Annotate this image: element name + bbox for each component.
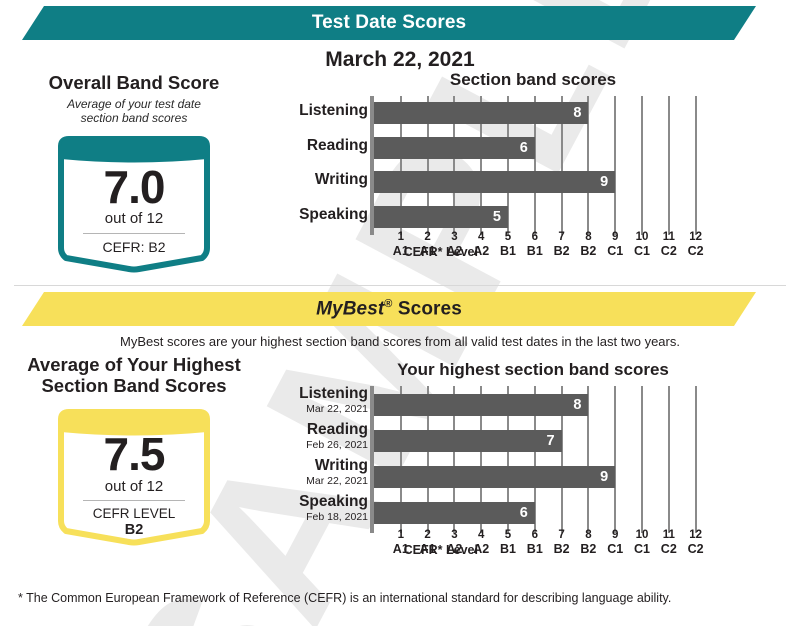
mybest-cefr-level-label: CEFR LEVEL <box>93 506 176 522</box>
x-tick-number: 1 <box>387 529 415 542</box>
x-tick-number: 9 <box>601 231 629 244</box>
x-tick-5: 5B1 <box>494 231 522 259</box>
row-label-speaking: Speaking <box>258 207 368 223</box>
x-tick-cefr: C2 <box>655 542 683 556</box>
row-label-date: Mar 22, 2021 <box>258 475 368 487</box>
x-tick-cefr: C2 <box>655 244 683 258</box>
x-tick-7: 7B2 <box>548 231 576 259</box>
x-tick-10: 10C1 <box>628 529 656 557</box>
overall-band-score-outof: out of 12 <box>105 211 163 228</box>
x-tick-number: 11 <box>655 529 683 542</box>
mybest-band-scores-plot: ListeningMar 22, 2021ReadingFeb 26, 2021… <box>258 388 788 529</box>
x-tick-7: 7B2 <box>548 529 576 557</box>
gridline-12 <box>695 96 697 235</box>
x-tick-11: 11C2 <box>655 231 683 259</box>
mybest-description: MyBest scores are your highest section b… <box>0 334 800 349</box>
mybest-average-block: Average of Your HighestSection Band Scor… <box>18 355 250 547</box>
bar-reading: 7 <box>374 430 562 452</box>
bar-fill: 8 <box>374 394 588 416</box>
bar-fill: 9 <box>374 466 615 488</box>
badge-divider-mybest <box>83 500 185 501</box>
bar-fill: 9 <box>374 171 615 193</box>
test-date-scores-banner-title: Test Date Scores <box>312 12 466 34</box>
row-label-name: Reading <box>258 422 368 438</box>
bar-writing: 9 <box>374 171 615 193</box>
x-tick-number: 7 <box>548 529 576 542</box>
x-tick-9: 9C1 <box>601 231 629 259</box>
row-label-date: Feb 18, 2021 <box>258 511 368 523</box>
x-tick-number: 2 <box>414 231 442 244</box>
x-tick-number: 6 <box>521 231 549 244</box>
bar-value-label: 8 <box>573 397 588 413</box>
x-tick-number: 11 <box>655 231 683 244</box>
bar-value-label: 9 <box>600 174 615 190</box>
row-label-date: Feb 26, 2021 <box>258 439 368 451</box>
bar-reading: 6 <box>374 137 535 159</box>
x-tick-8: 8B2 <box>574 529 602 557</box>
x-tick-number: 1 <box>387 231 415 244</box>
bar-listening: 8 <box>374 102 588 124</box>
overall-band-score-badge: 7.0 out of 12 CEFR: B2 <box>49 132 219 274</box>
x-tick-number: 3 <box>440 529 468 542</box>
x-tick-cefr: B2 <box>548 244 576 258</box>
row-label-speaking: SpeakingFeb 18, 2021 <box>258 494 368 523</box>
x-tick-cefr: A1 <box>387 542 415 556</box>
x-tick-1: 1A1 <box>387 231 415 259</box>
row-label-reading: Reading <box>258 138 368 154</box>
x-tick-number: 9 <box>601 529 629 542</box>
row-label-listening: Listening <box>258 103 368 119</box>
x-tick-12: 12C2 <box>682 231 710 259</box>
x-tick-number: 5 <box>494 231 522 244</box>
x-tick-number: 12 <box>682 231 710 244</box>
bar-value-label: 5 <box>493 209 508 225</box>
overall-band-score-value: 7.0 <box>104 165 165 210</box>
x-tick-cefr: A1 <box>387 244 415 258</box>
x-tick-number: 7 <box>548 231 576 244</box>
mybest-wordmark: MyBest <box>316 298 384 319</box>
row-label-name: Writing <box>258 172 368 188</box>
x-tick-2: 2A1 <box>414 529 442 557</box>
x-tick-1: 1A1 <box>387 529 415 557</box>
mybest-band-scores-chart: Your highest section band scores Listeni… <box>258 360 788 529</box>
bar-listening: 8 <box>374 394 588 416</box>
x-tick-number: 8 <box>574 231 602 244</box>
overall-band-score-subtext: Average of your test datesection band sc… <box>18 97 250 125</box>
x-tick-cefr: A2 <box>440 542 468 556</box>
overall-band-score-heading: Overall Band Score <box>18 73 250 94</box>
mybest-band-scores-chart-title: Your highest section band scores <box>278 360 788 380</box>
mybest-average-score-value: 7.5 <box>104 432 165 477</box>
mybest-average-badge: 7.5 out of 12 CEFR LEVEL B2 <box>49 405 219 547</box>
x-tick-number: 4 <box>467 529 495 542</box>
section-divider <box>14 285 786 286</box>
gridline-9 <box>614 386 616 533</box>
bar-value-label: 8 <box>573 105 588 121</box>
mybest-row-labels: ListeningMar 22, 2021ReadingFeb 26, 2021… <box>258 388 368 529</box>
row-label-name: Writing <box>258 458 368 474</box>
test-date: March 22, 2021 <box>0 48 800 72</box>
row-label-writing: Writing <box>258 172 368 188</box>
x-tick-5: 5B1 <box>494 529 522 557</box>
row-label-name: Speaking <box>258 494 368 510</box>
x-tick-number: 10 <box>628 529 656 542</box>
mybest-average-heading: Average of Your HighestSection Band Scor… <box>18 355 250 396</box>
badge-divider <box>83 233 185 234</box>
bar-fill: 6 <box>374 502 535 524</box>
x-tick-cefr: A2 <box>467 542 495 556</box>
section-band-scores-chart-title: Section band scores <box>278 70 788 90</box>
x-tick-cefr: B2 <box>574 542 602 556</box>
mybest-average-outof: out of 12 <box>105 479 163 496</box>
x-tick-cefr: B1 <box>521 542 549 556</box>
x-tick-cefr: A1 <box>414 542 442 556</box>
gridline-10 <box>641 386 643 533</box>
x-tick-cefr: B2 <box>574 244 602 258</box>
x-tick-6: 6B1 <box>521 231 549 259</box>
x-tick-6: 6B1 <box>521 529 549 557</box>
x-tick-4: 4A2 <box>467 231 495 259</box>
bar-fill: 8 <box>374 102 588 124</box>
overall-band-score-block: Overall Band Score Average of your test … <box>18 73 250 274</box>
row-label-listening: ListeningMar 22, 2021 <box>258 386 368 415</box>
bar-value-label: 6 <box>520 140 535 156</box>
row-label-reading: ReadingFeb 26, 2021 <box>258 422 368 451</box>
gridline-12 <box>695 386 697 533</box>
x-tick-number: 3 <box>440 231 468 244</box>
x-tick-3: 3A2 <box>440 231 468 259</box>
x-tick-8: 8B2 <box>574 231 602 259</box>
x-tick-number: 10 <box>628 231 656 244</box>
x-tick-cefr: B1 <box>494 542 522 556</box>
x-tick-cefr: A1 <box>414 244 442 258</box>
registered-trademark-icon: ® <box>384 298 392 310</box>
gridline-10 <box>641 96 643 235</box>
bar-value-label: 9 <box>600 469 615 485</box>
bar-fill: 5 <box>374 206 508 228</box>
mybest-cefr-level-value: B2 <box>125 522 144 539</box>
row-label-name: Speaking <box>258 207 368 223</box>
row-label-name: Listening <box>258 103 368 119</box>
bar-value-label: 6 <box>520 505 535 521</box>
x-tick-number: 8 <box>574 529 602 542</box>
x-tick-cefr: C1 <box>601 542 629 556</box>
mybest-grid-area: 8796 <box>370 388 788 529</box>
x-tick-cefr: A2 <box>467 244 495 258</box>
x-tick-2: 2A1 <box>414 231 442 259</box>
gridline-11 <box>668 386 670 533</box>
bar-value-label: 7 <box>547 433 562 449</box>
x-tick-3: 3A2 <box>440 529 468 557</box>
x-tick-number: 4 <box>467 231 495 244</box>
x-tick-number: 5 <box>494 529 522 542</box>
row-label-date: Mar 22, 2021 <box>258 403 368 415</box>
test-date-scores-banner: Test Date Scores <box>22 6 756 40</box>
section-axis-labels: CEFR* Level 1A12A13A24A25B16B17B28B29C11… <box>370 231 788 265</box>
mybest-axis-labels: CEFR* Level 1A12A13A24A25B16B17B28B29C11… <box>370 529 788 563</box>
mybest-scores-banner-title: MyBest® Scores <box>316 298 462 320</box>
bar-speaking: 6 <box>374 502 535 524</box>
x-tick-cefr: B1 <box>494 244 522 258</box>
x-tick-cefr: A2 <box>440 244 468 258</box>
x-tick-cefr: C1 <box>601 244 629 258</box>
score-report-page: SAMPLE Test Date Scores March 22, 2021 O… <box>0 0 800 626</box>
x-tick-12: 12C2 <box>682 529 710 557</box>
x-tick-cefr: C1 <box>628 244 656 258</box>
x-tick-9: 9C1 <box>601 529 629 557</box>
x-tick-cefr: C2 <box>682 244 710 258</box>
x-tick-number: 6 <box>521 529 549 542</box>
section-row-labels: ListeningReadingWritingSpeaking <box>258 98 368 231</box>
section-band-scores-plot: ListeningReadingWritingSpeaking 8695 CEF… <box>258 98 788 231</box>
x-tick-10: 10C1 <box>628 231 656 259</box>
section-grid-area: 8695 <box>370 98 788 231</box>
x-tick-cefr: B2 <box>548 542 576 556</box>
bar-speaking: 5 <box>374 206 508 228</box>
mybest-scores-word: Scores <box>393 298 462 319</box>
row-label-name: Reading <box>258 138 368 154</box>
x-tick-4: 4A2 <box>467 529 495 557</box>
bar-writing: 9 <box>374 466 615 488</box>
overall-band-score-cefr: CEFR: B2 <box>102 239 165 255</box>
row-label-name: Listening <box>258 386 368 402</box>
x-tick-cefr: C2 <box>682 542 710 556</box>
x-tick-cefr: C1 <box>628 542 656 556</box>
gridline-11 <box>668 96 670 235</box>
bar-fill: 7 <box>374 430 562 452</box>
x-tick-cefr: B1 <box>521 244 549 258</box>
section-band-scores-chart: Section band scores ListeningReadingWrit… <box>258 70 788 231</box>
mybest-scores-banner: MyBest® Scores <box>22 292 756 326</box>
x-tick-11: 11C2 <box>655 529 683 557</box>
x-tick-number: 12 <box>682 529 710 542</box>
bar-fill: 6 <box>374 137 535 159</box>
cefr-footnote: * The Common European Framework of Refer… <box>18 590 718 606</box>
gridline-9 <box>614 96 616 235</box>
row-label-writing: WritingMar 22, 2021 <box>258 458 368 487</box>
x-tick-number: 2 <box>414 529 442 542</box>
